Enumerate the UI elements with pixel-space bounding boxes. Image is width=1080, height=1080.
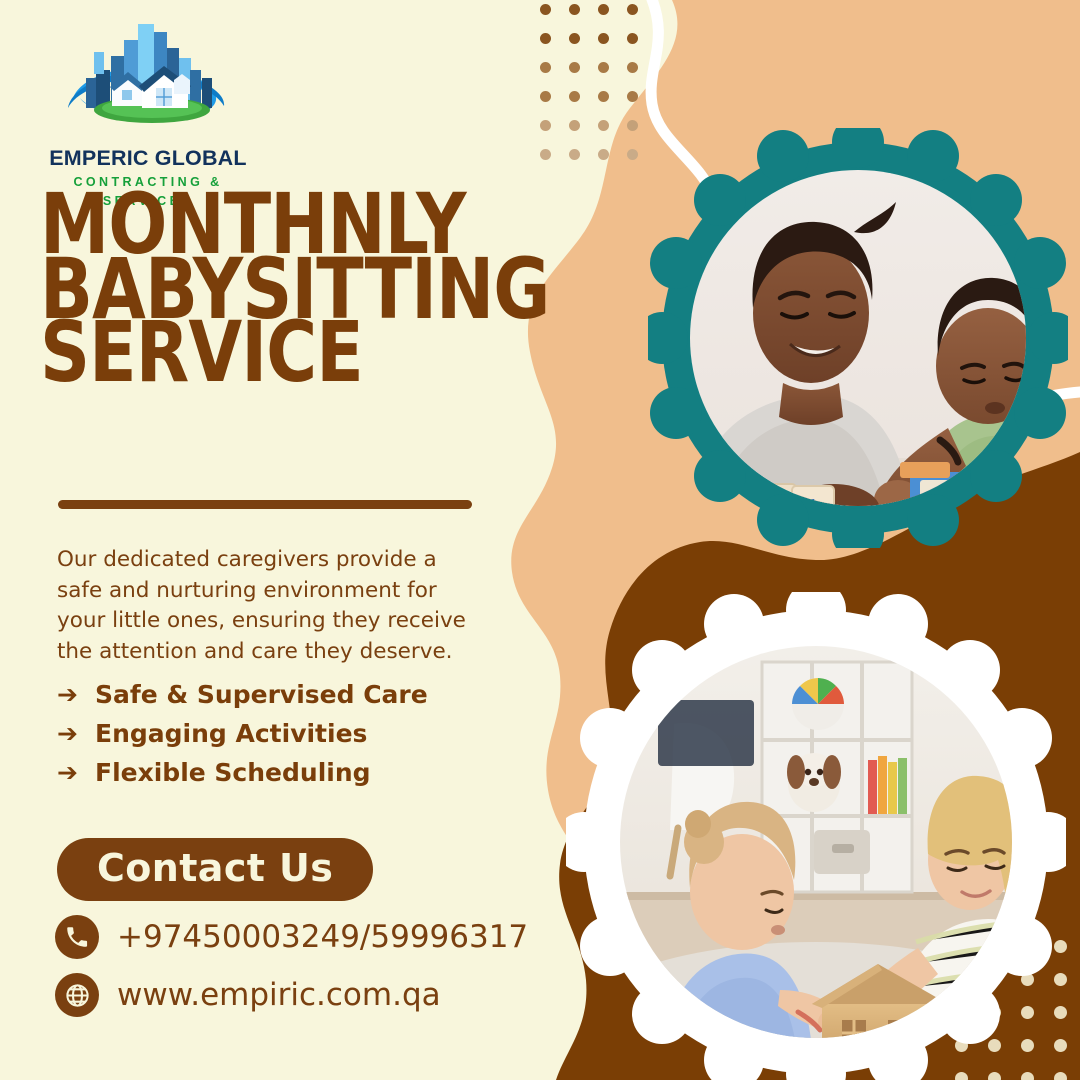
photo-caregiver-toyhouse bbox=[566, 592, 1066, 1080]
headline-line-3: SERVICE bbox=[40, 316, 518, 390]
dot bbox=[569, 4, 580, 15]
dot bbox=[569, 91, 580, 102]
dot bbox=[598, 91, 609, 102]
arrow-icon: ➔ bbox=[57, 760, 83, 785]
dot bbox=[598, 120, 609, 131]
arrow-icon: ➔ bbox=[57, 721, 83, 746]
dot bbox=[569, 33, 580, 44]
dot bbox=[540, 33, 551, 44]
arrow-icon: ➔ bbox=[57, 682, 83, 707]
poster-canvas: r j m bbox=[0, 0, 1080, 1080]
dot bbox=[569, 62, 580, 73]
contact-phone-row[interactable]: +97450003249/59996317 bbox=[55, 915, 528, 959]
photo-caregiver-blocks: r j m bbox=[648, 128, 1068, 548]
feature-label: Safe & Supervised Care bbox=[95, 680, 428, 709]
contact-us-button[interactable]: Contact Us bbox=[57, 838, 373, 901]
list-item: ➔ Engaging Activities bbox=[57, 719, 527, 748]
city-skyline-house-logo-icon bbox=[66, 18, 234, 138]
dot bbox=[598, 33, 609, 44]
dot bbox=[569, 120, 580, 131]
globe-icon bbox=[55, 973, 99, 1017]
brand-name: EMPERIC GLOBAL bbox=[28, 146, 268, 171]
website-url: www.empiric.com.qa bbox=[117, 980, 441, 1011]
feature-label: Flexible Scheduling bbox=[95, 758, 371, 787]
contact-website-row[interactable]: www.empiric.com.qa bbox=[55, 973, 441, 1017]
divider-bar bbox=[58, 500, 472, 509]
brand-logo: EMPERIC GLOBAL CONTRACTING & SERVICES bbox=[28, 18, 268, 188]
dot bbox=[569, 149, 580, 160]
dot bbox=[627, 91, 638, 102]
dot bbox=[540, 4, 551, 15]
phone-icon bbox=[55, 915, 99, 959]
list-item: ➔ Flexible Scheduling bbox=[57, 758, 527, 787]
dot bbox=[627, 33, 638, 44]
page-title: MONTHNLY BABYSITTING SERVICE bbox=[40, 188, 560, 390]
dot bbox=[540, 149, 551, 160]
dot bbox=[598, 62, 609, 73]
dot bbox=[540, 120, 551, 131]
dot bbox=[627, 62, 638, 73]
list-item: ➔ Safe & Supervised Care bbox=[57, 680, 527, 709]
feature-label: Engaging Activities bbox=[95, 719, 367, 748]
dot bbox=[627, 120, 638, 131]
dot bbox=[540, 91, 551, 102]
dot bbox=[627, 4, 638, 15]
description-text: Our dedicated caregivers provide a safe … bbox=[57, 545, 487, 667]
dot bbox=[598, 4, 609, 15]
dot bbox=[627, 149, 638, 160]
dot bbox=[540, 62, 551, 73]
phone-number: +97450003249/59996317 bbox=[117, 922, 528, 953]
dot bbox=[598, 149, 609, 160]
feature-list: ➔ Safe & Supervised Care ➔ Engaging Acti… bbox=[57, 680, 527, 797]
